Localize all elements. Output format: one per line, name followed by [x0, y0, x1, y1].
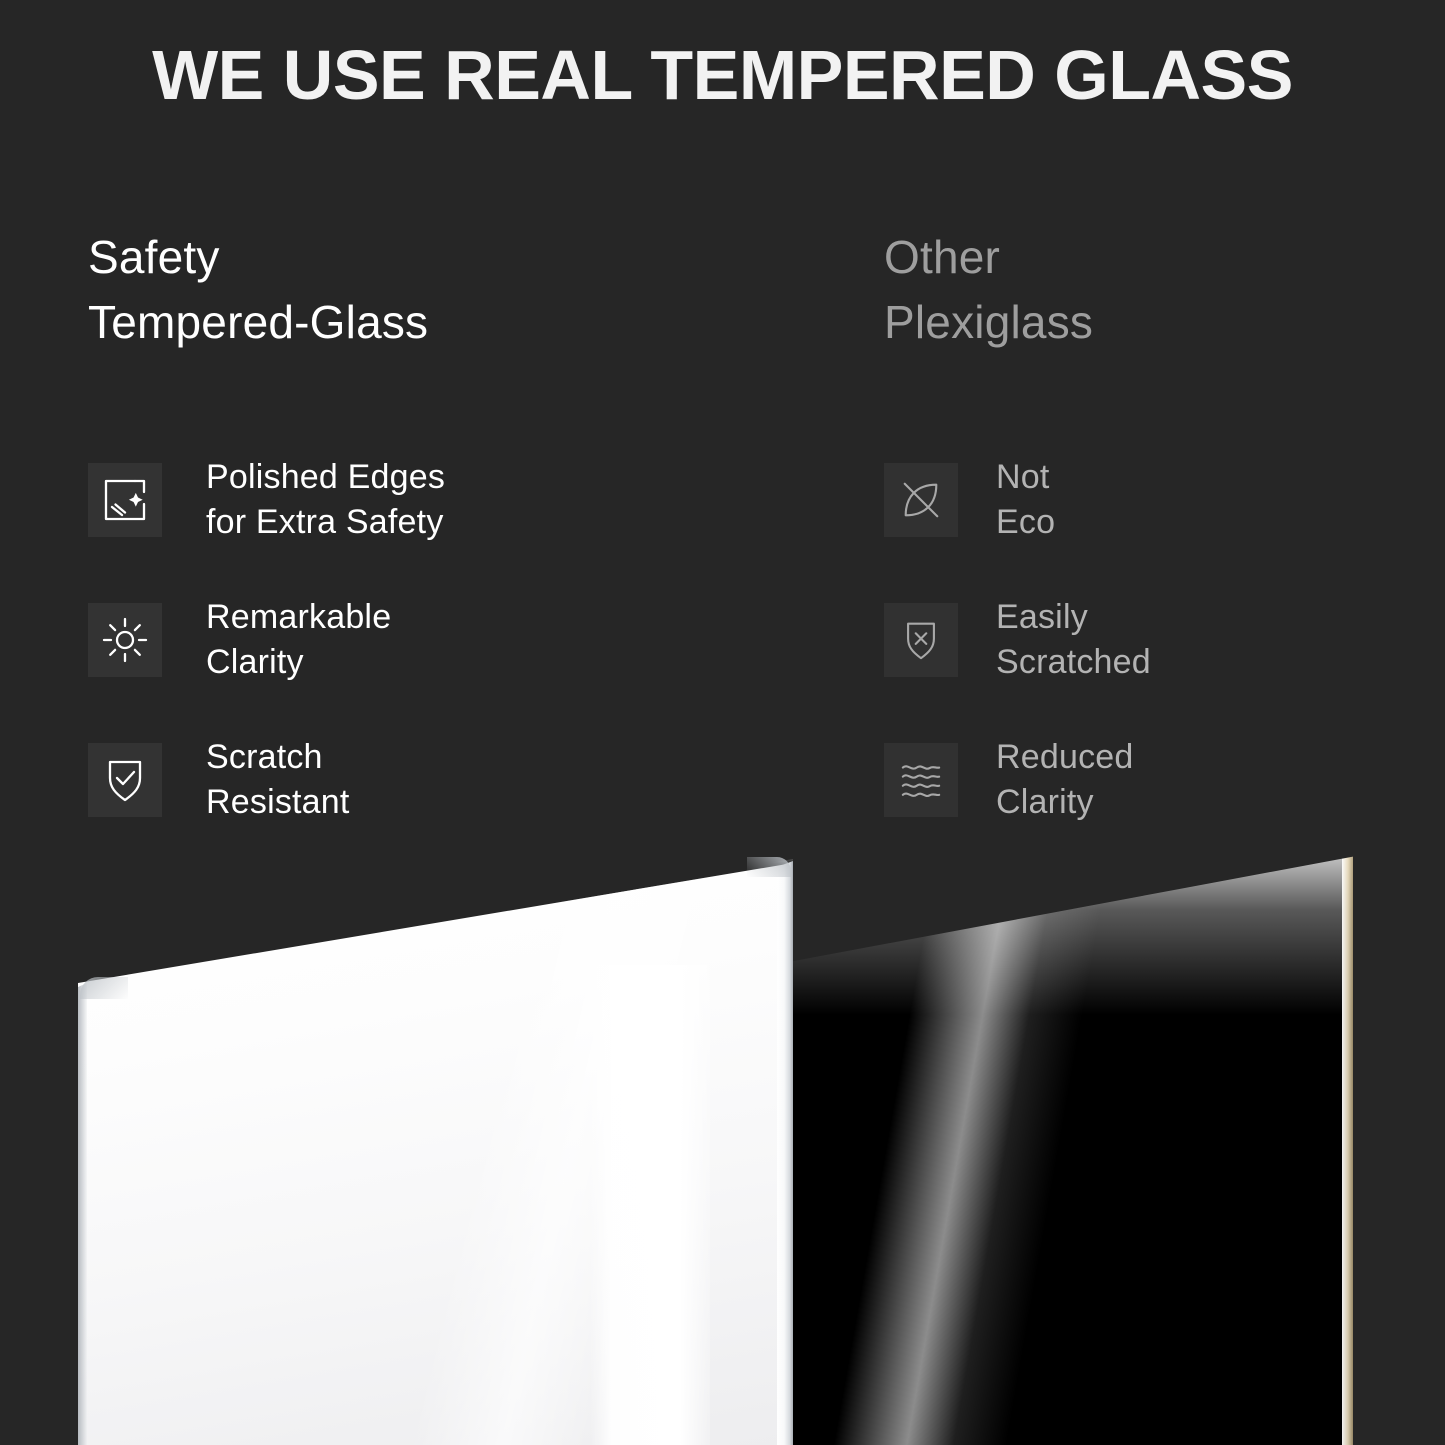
- shield-x-icon: [884, 603, 958, 677]
- glass-surface: [78, 845, 793, 1445]
- feature-remarkable-clarity: Remarkable Clarity: [88, 570, 848, 710]
- feature-label: Polished Edges for Extra Safety: [206, 455, 445, 545]
- column-heading-left: Safety Tempered-Glass: [88, 225, 848, 356]
- feature-polished-edges: Polished Edges for Extra Safety: [88, 430, 848, 570]
- feature-list-left: Polished Edges for Extra Safety: [88, 430, 848, 850]
- feature-list-right: Not Eco Easily Scratched: [884, 430, 1404, 850]
- feature-scratch-resistant: Scratch Resistant: [88, 710, 848, 850]
- product-panels: [0, 845, 1445, 1445]
- plexiglass-panel-image: [793, 845, 1353, 1445]
- feature-label: Reduced Clarity: [996, 735, 1134, 825]
- column-safety-tempered-glass: Safety Tempered-Glass Polished Edges for…: [88, 225, 848, 356]
- plexi-right-edge: [1342, 845, 1353, 1445]
- tempered-glass-infographic: { "title": "WE USE REAL TEMPERED GLASS",…: [0, 0, 1445, 1445]
- feature-reduced-clarity: Reduced Clarity: [884, 710, 1404, 850]
- wavy-lines-icon: [884, 743, 958, 817]
- feature-not-eco: Not Eco: [884, 430, 1404, 570]
- shield-check-icon: [88, 743, 162, 817]
- comparison-columns: Safety Tempered-Glass Polished Edges for…: [0, 225, 1445, 845]
- feature-label: Remarkable Clarity: [206, 595, 391, 685]
- glass-right-polished-edge: [777, 845, 793, 1445]
- page-title: WE USE REAL TEMPERED GLASS: [0, 40, 1445, 110]
- leaf-crossed-out-icon: [884, 463, 958, 537]
- column-other-plexiglass: Other Plexiglass Not Eco: [884, 225, 1404, 356]
- glass-left-polished-edge: [78, 845, 87, 1445]
- sun-brightness-icon: [88, 603, 162, 677]
- feature-easily-scratched: Easily Scratched: [884, 570, 1404, 710]
- column-heading-right: Other Plexiglass: [884, 225, 1404, 356]
- feature-label: Scratch Resistant: [206, 735, 350, 825]
- polished-edge-icon: [88, 463, 162, 537]
- tempered-glass-panel-image: [78, 845, 793, 1445]
- feature-label: Easily Scratched: [996, 595, 1151, 685]
- feature-label: Not Eco: [996, 455, 1055, 545]
